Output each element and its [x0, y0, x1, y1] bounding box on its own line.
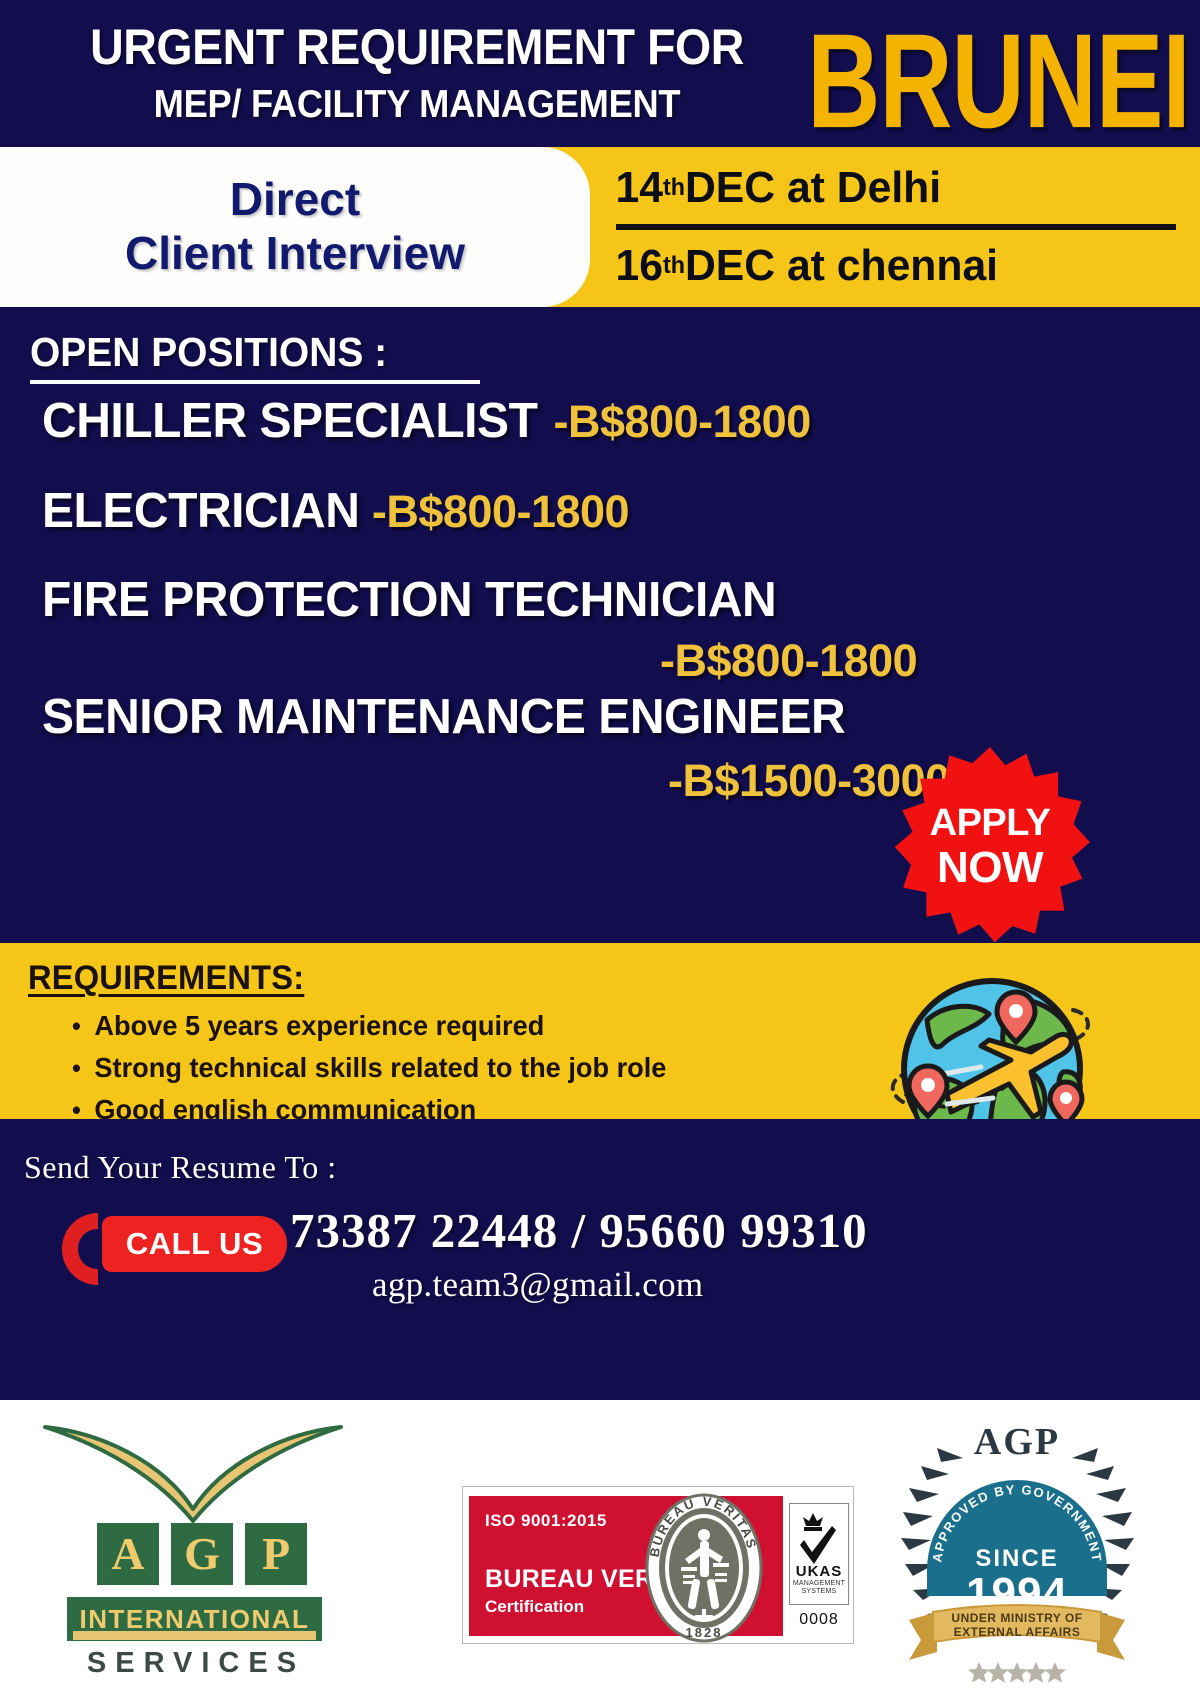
job-listing-0: CHILLER SPECIALIST-B$800-1800: [42, 393, 1152, 449]
job-title-0: CHILLER SPECIALIST: [42, 393, 537, 449]
call-us-button[interactable]: CALL US: [102, 1216, 287, 1272]
ukas-box: UKAS MANAGEMENT SYSTEMS: [789, 1503, 849, 1605]
iso-certification-badge: ISO 9001:2015 BUREAU VERITAS Certificati…: [462, 1486, 854, 1644]
interview-date-1: 16th DEC at chennai: [600, 230, 1182, 302]
bullet-icon: •: [72, 1048, 81, 1089]
agp-letter-p: P: [245, 1523, 307, 1585]
interview-date-0: 14th DEC at Delhi: [600, 152, 1182, 224]
job-listing-3: SENIOR MAINTENANCE ENGINEER: [42, 689, 1152, 745]
job-title-2: FIRE PROTECTION TECHNICIAN: [42, 572, 776, 628]
apply-now-line-1: APPLY: [930, 804, 1051, 842]
job-title-3: SENIOR MAINTENANCE ENGINEER: [42, 689, 845, 745]
agp-government-seal: AGP APPROVED BY GOVERNMENT OF INDIA SINC…: [875, 1420, 1160, 1690]
header-title-block: URGENT REQUIREMENT FOR MEP/ FACILITY MAN…: [22, 18, 812, 127]
call-us-label: CALL US: [126, 1226, 263, 1262]
requirement-text-1: Strong technical skills related to the j…: [94, 1047, 666, 1088]
open-positions-underline: [30, 380, 480, 384]
bullet-icon: •: [72, 1006, 81, 1047]
agp-gold-bar: [73, 1631, 316, 1640]
agp-seal-ribbon-line-1: UNDER MINISTRY OF: [951, 1611, 1082, 1625]
header-line-2: MEP/ FACILITY MANAGEMENT: [50, 83, 785, 127]
requirement-text-0: Above 5 years experience required: [94, 1005, 544, 1046]
iso-standard-label: ISO 9001:2015: [485, 1511, 607, 1531]
country-name: BRUNEI: [808, 10, 1190, 154]
agp-wings-icon: [33, 1417, 363, 1527]
interview-label-line-1: Direct: [230, 173, 360, 225]
poster-header: URGENT REQUIREMENT FOR MEP/ FACILITY MAN…: [0, 0, 1200, 148]
ukas-number: 0008: [789, 1611, 849, 1629]
requirements-heading: REQUIREMENTS:: [28, 959, 304, 998]
interview-label: Direct Client Interview: [0, 147, 590, 307]
call-us-group[interactable]: CALL US: [42, 1207, 282, 1285]
agp-seal-stars-icon: [968, 1662, 1066, 1683]
contact-section: Send Your Resume To : CALL US 73387 2244…: [0, 1119, 1200, 1400]
date-day-0: 14: [616, 163, 663, 213]
agp-seal-brand: AGP: [974, 1421, 1060, 1463]
header-line-1: URGENT REQUIREMENT FOR: [50, 18, 785, 76]
agp-letter-g: G: [171, 1523, 233, 1585]
bv-seal-year: 1828: [686, 1625, 723, 1640]
bureau-veritas-seal-icon: BUREAU VERITAS 1828: [645, 1493, 763, 1643]
job-salary-2: -B$800-1800: [660, 635, 917, 687]
phone-numbers[interactable]: 73387 22448 / 95660 99310: [290, 1202, 868, 1259]
agp-seal-ribbon-line-2: EXTERNAL AFFAIRS: [954, 1625, 1081, 1639]
open-positions-heading: OPEN POSITIONS :: [30, 329, 387, 376]
date-day-1: 16: [616, 241, 663, 291]
interview-banner: Direct Client Interview 14th DEC at Delh…: [0, 147, 1200, 307]
job-salary-1: -B$800-1800: [372, 486, 629, 538]
interview-label-line-2: Client Interview: [125, 225, 465, 281]
ukas-sublabel: MANAGEMENT SYSTEMS: [790, 1580, 848, 1596]
ukas-crown-tick-icon: [790, 1508, 848, 1570]
ukas-label: UKAS: [790, 1563, 848, 1580]
job-listing-2: FIRE PROTECTION TECHNICIAN: [42, 572, 1152, 628]
agp-letter-blocks: A G P: [97, 1523, 307, 1585]
date-rest-1: DEC at chennai: [685, 241, 998, 291]
date-rest-0: DEC at Delhi: [685, 163, 941, 213]
agp-logo: A G P INTERNATIONAL SERVICES: [45, 1425, 375, 1675]
certification-label: Certification: [485, 1597, 584, 1617]
agp-letter-a: A: [97, 1523, 159, 1585]
interview-dates: 14th DEC at Delhi 16th DEC at chennai: [600, 147, 1200, 307]
poster-footer: A G P INTERNATIONAL SERVICES ISO 9001:20…: [0, 1400, 1200, 1698]
email-address[interactable]: agp.team3@gmail.com: [372, 1265, 703, 1305]
apply-now-badge[interactable]: APPLY NOW: [890, 747, 1090, 947]
requirement-item-0: • Above 5 years experience required: [72, 1005, 829, 1047]
recruitment-poster: URGENT REQUIREMENT FOR MEP/ FACILITY MAN…: [0, 0, 1200, 1698]
job-title-1: ELECTRICIAN: [42, 483, 359, 539]
job-listing-1: ELECTRICIAN-B$800-1800: [42, 483, 1152, 539]
resume-label: Send Your Resume To :: [24, 1149, 337, 1186]
job-salary-0: -B$800-1800: [554, 396, 811, 448]
agp-seal-since-label: SINCE: [975, 1545, 1058, 1572]
requirement-item-1: • Strong technical skills related to the…: [72, 1047, 829, 1089]
apply-now-line-2: NOW: [937, 846, 1043, 890]
agp-services-label: SERVICES: [65, 1647, 327, 1680]
open-positions-section: OPEN POSITIONS : CHILLER SPECIALIST-B$80…: [0, 307, 1200, 943]
